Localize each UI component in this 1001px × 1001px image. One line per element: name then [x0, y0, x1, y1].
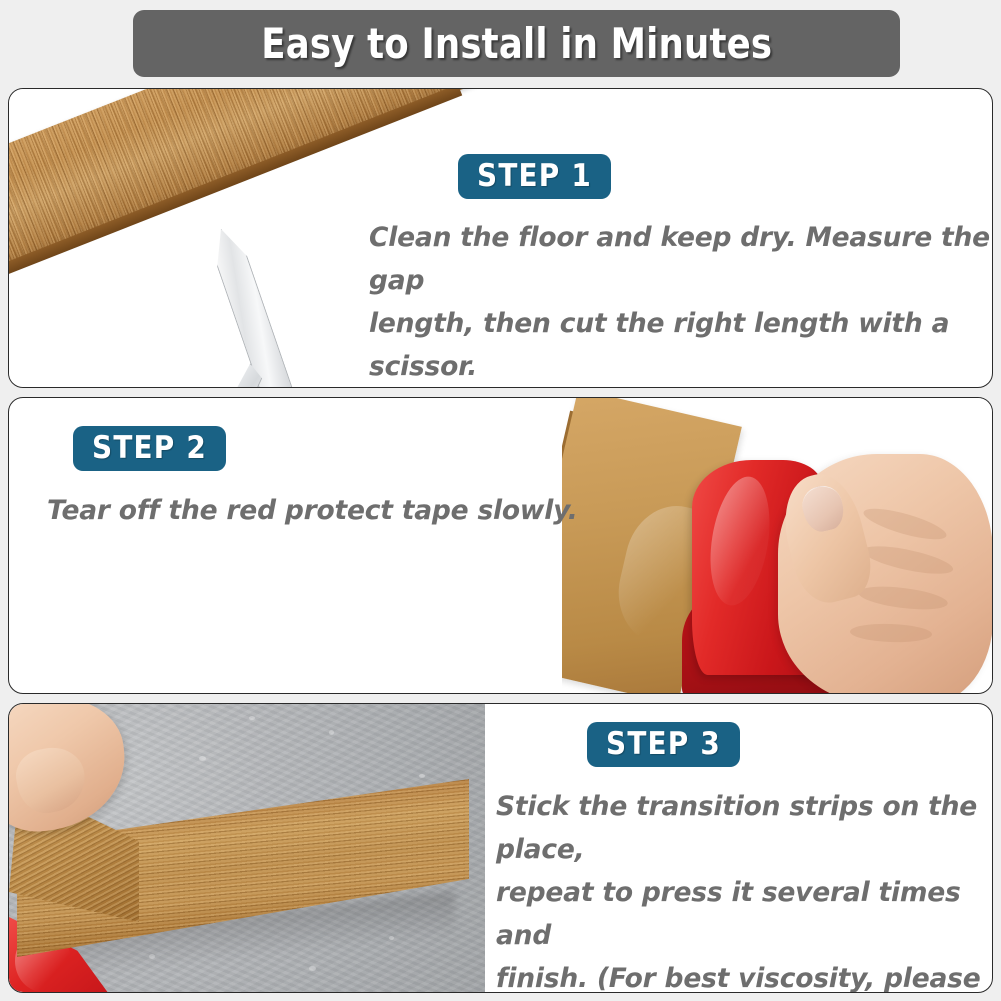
step-panel-3: STEP 3 Stick the transition strips on th…	[8, 703, 993, 993]
floor-speck	[309, 966, 316, 971]
step-panel-2-inner: STEP 2 Tear off the red protect tape slo…	[9, 398, 992, 693]
step-badge-1-label: STEP 1	[477, 161, 592, 192]
step-panel-2: STEP 2 Tear off the red protect tape slo…	[8, 397, 993, 694]
floor-speck	[419, 774, 425, 778]
step-badge-3-label: STEP 3	[606, 729, 721, 760]
floor-speck	[249, 716, 255, 720]
step-panel-1-inner: STEP 1 Clean the floor and keep dry. Mea…	[9, 89, 992, 387]
hand-pressing-strip-onto-gray-floor-photo	[9, 704, 485, 992]
step-panel-3-inner: STEP 3 Stick the transition strips on th…	[9, 704, 992, 992]
step-3-description: Stick the transition strips on the place…	[496, 786, 992, 992]
header-banner: Easy to Install in Minutes	[133, 10, 900, 77]
page-title: Easy to Install in Minutes	[261, 23, 772, 65]
step-badge-2-label: STEP 2	[92, 433, 207, 464]
step-panel-1: STEP 1 Clean the floor and keep dry. Mea…	[8, 88, 993, 388]
scissors-upper-blade-icon	[206, 224, 307, 387]
step-badge-3: STEP 3	[587, 722, 740, 767]
step-badge-2: STEP 2	[73, 426, 226, 471]
floor-speck	[199, 756, 206, 761]
step-badge-1: STEP 1	[458, 154, 611, 199]
step-1-description: Clean the floor and keep dry. Measure th…	[369, 217, 992, 387]
floor-speck	[329, 730, 334, 735]
hand-peeling-red-protective-tape-photo	[562, 398, 992, 693]
step-2-description: Tear off the red protect tape slowly.	[47, 490, 607, 533]
